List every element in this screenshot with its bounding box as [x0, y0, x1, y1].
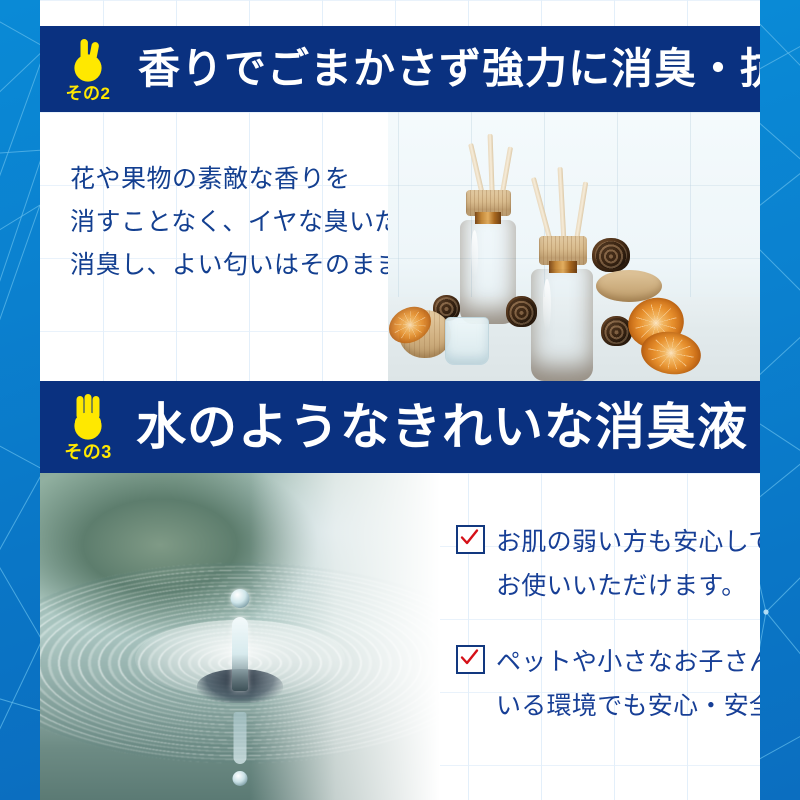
diffuser-bottle-back	[460, 164, 516, 324]
badge-label-section-3: その3	[64, 443, 112, 461]
benefits-checklist: お肌の弱い方も安心して お使いいただけます。 ペットや小さなお子さんが いる環境…	[440, 473, 760, 800]
content-column: その2 香りでごまかさず強力に消臭・抗菌 花や果物の素敵な香りを 消すことなく、…	[40, 0, 760, 800]
copy-line: 消臭し、よい匂いはそのまま	[70, 244, 426, 287]
bottle-body	[531, 269, 593, 381]
pinecone	[592, 238, 630, 272]
check-line: お使いいただけます。	[496, 565, 760, 609]
check-line: ペットや小さなお子さんが	[496, 641, 760, 685]
banner-section-2: その2 香りでごまかさず強力に消臭・抗菌	[40, 26, 760, 112]
badge-label-section-2: その2	[66, 85, 111, 102]
checklist-item-text: お肌の弱い方も安心して お使いいただけます。	[496, 521, 760, 609]
checklist-item-text: ペットや小さなお子さんが いる環境でも安心・安全	[496, 641, 760, 729]
section-2-body: 花や果物の素敵な香りを 消すことなく、イヤな臭いだけ 消臭し、よい匂いはそのまま	[40, 112, 760, 381]
check-line: お肌の弱い方も安心して	[496, 521, 760, 565]
water-droplet-reflection	[233, 771, 248, 786]
copy-line: 消すことなく、イヤな臭いだけ	[70, 201, 426, 244]
banner-title-section-3: 水のようなきれいな消臭液	[136, 402, 748, 452]
hand-peace-two-fingers-icon	[65, 37, 111, 84]
section-3-body: お肌の弱い方も安心して お使いいただけます。 ペットや小さなお子さんが いる環境…	[40, 473, 760, 800]
glass-jar	[445, 317, 489, 365]
splash-reflection	[234, 712, 247, 764]
water-droplet-photo	[40, 473, 440, 800]
diffuser-bottle-front	[531, 204, 593, 381]
right-border-network-pattern	[760, 0, 800, 800]
checklist-item: ペットや小さなお子さんが いる環境でも安心・安全	[456, 641, 760, 729]
bottle-highlight	[543, 279, 551, 331]
badge-section-2: その2	[40, 26, 136, 112]
bottle-highlight	[471, 230, 478, 278]
banner-section-3: その3 水のようなきれいな消臭液	[40, 381, 760, 473]
promo-page: その2 香りでごまかさず強力に消臭・抗菌 花や果物の素敵な香りを 消すことなく、…	[0, 0, 800, 800]
top-grid-strip	[40, 0, 760, 26]
hand-three-fingers-icon	[64, 393, 112, 442]
right-decorative-border	[760, 0, 800, 800]
left-decorative-border	[0, 0, 40, 800]
reed-diffuser-photo	[388, 112, 760, 381]
checklist-item: お肌の弱い方も安心して お使いいただけます。	[456, 521, 760, 609]
section-2-copy: 花や果物の素敵な香りを 消すことなく、イヤな臭いだけ 消臭し、よい匂いはそのまま	[70, 158, 426, 287]
red-check-icon	[456, 645, 485, 674]
check-line: いる環境でも安心・安全	[496, 685, 760, 729]
badge-section-3: その3	[40, 381, 136, 473]
pinecone	[506, 296, 537, 327]
copy-line: 花や果物の素敵な香りを	[70, 158, 426, 201]
red-check-icon	[456, 525, 485, 554]
photo-fade-edge	[250, 473, 440, 800]
splash-column	[232, 617, 248, 691]
left-border-network-pattern	[0, 0, 40, 800]
banner-title-section-2: 香りでごまかさず強力に消臭・抗菌	[138, 48, 760, 90]
water-droplet	[231, 589, 250, 608]
